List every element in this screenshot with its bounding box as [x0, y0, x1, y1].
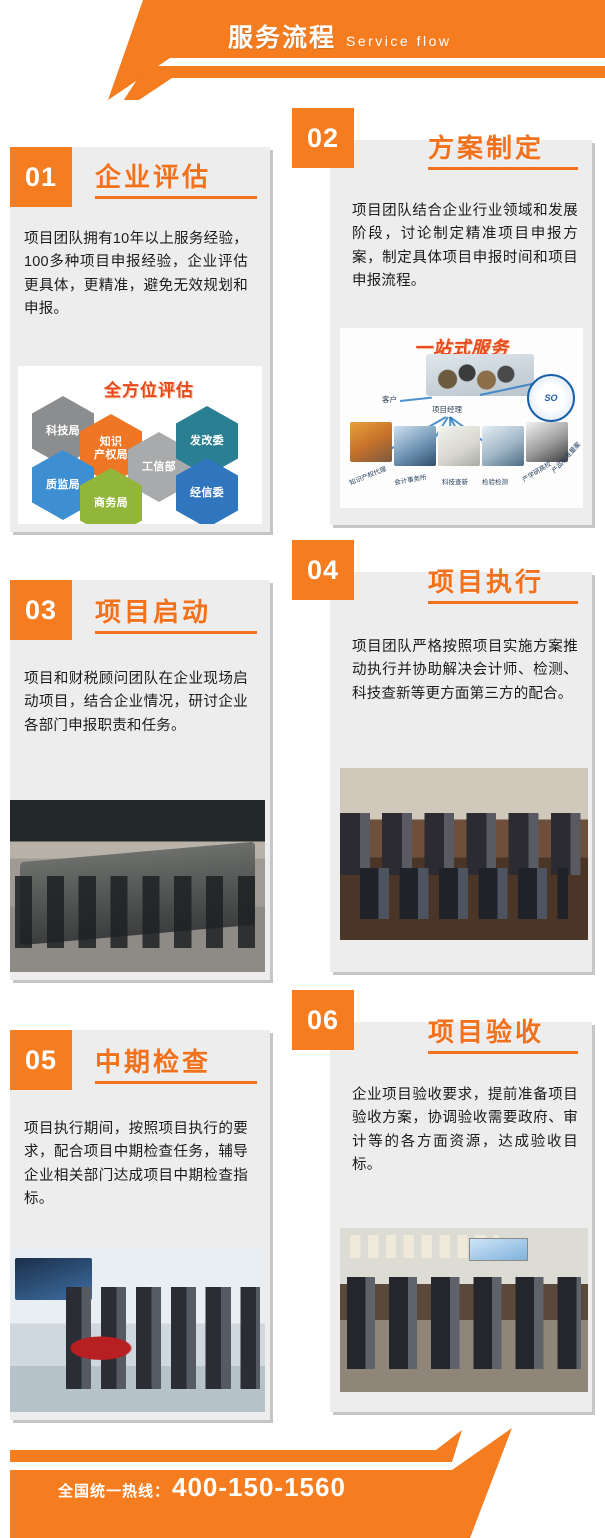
card-02-title-rule [428, 167, 578, 170]
card-05-title-rule [95, 1081, 257, 1084]
footer-hotline-label: 全国统一热线： [58, 1480, 170, 1501]
hex-node-label: 质监局 [46, 479, 80, 492]
one-stop-chip [394, 426, 436, 466]
photo-meeting-table [340, 768, 588, 940]
card-06-badge: 06 [292, 990, 354, 1050]
card-04-title-rule [428, 601, 578, 604]
card-04-body: 项目团队严格按照项目实施方案推动执行并协助解决会计师、检测、科技查新等更方面第三… [352, 636, 578, 706]
infographic-page: 服务流程 Service flow 01 企业评估 项目团队拥有10年以上服务经… [0, 0, 605, 1538]
card-03-badge: 03 [10, 580, 72, 640]
card-06-title: 项目验收 [428, 1012, 544, 1049]
card-05-badge: 05 [10, 1030, 72, 1090]
card-03-title: 项目启动 [95, 592, 211, 629]
one-stop-branch-label: 产学研高校 [520, 458, 553, 484]
photo-boardroom [340, 1228, 588, 1392]
one-stop-chip [482, 426, 524, 466]
one-stop-center-photo [426, 354, 534, 396]
projector-screen [469, 1238, 529, 1261]
header-band-stripe [112, 66, 605, 100]
card-02-title: 方案制定 [428, 128, 544, 165]
iso-seal-label: SO [544, 393, 557, 403]
one-stop-branch-label: 检验检测 [482, 476, 508, 486]
card-03-title-rule [95, 631, 257, 634]
hex-node-label: 知识 产权局 [94, 436, 128, 461]
card-04-badge: 04 [292, 540, 354, 600]
card-06-title-rule [428, 1051, 578, 1054]
card-01-title-rule [95, 196, 257, 199]
one-stop-diagram: 一站式服务 客户 项目经理 SO 知识产权代理 会计事务所 科技查新 检验检测 … [340, 328, 583, 508]
card-05-body: 项目执行期间，按照项目执行的要求，配合项目中期检查任务，辅导企业相关部门达成项目… [24, 1118, 248, 1212]
card-06-body: 企业项目验收要求，提前准备项目验收方案，协调验收需要政府、审计等的各方面资源，达… [352, 1084, 578, 1178]
one-stop-center-label: 项目经理 [432, 404, 462, 415]
one-stop-chip [350, 422, 392, 462]
one-stop-branch-label: 科技查新 [442, 476, 468, 486]
card-01-body: 项目团队拥有10年以上服务经验，100多种项目申报经验，企业评估更具体，更精准，… [24, 228, 248, 322]
hex-node-label: 商务局 [94, 497, 128, 510]
one-stop-client-label: 客户 [382, 394, 397, 405]
photo-showroom-tour [10, 1248, 265, 1412]
card-03-photo [10, 800, 265, 972]
header-chevron-shape [0, 0, 605, 100]
hex-node-label: 科技局 [46, 425, 80, 438]
card-02-body: 项目团队结合企业行业领域和发展阶段，讨论制定精准项目申报方案，制定具体项目申报时… [352, 200, 578, 294]
card-04-photo [340, 768, 588, 940]
hex-node-label: 发改委 [190, 435, 224, 448]
card-06-photo [340, 1228, 588, 1392]
footer-hotline-group: 全国统一热线： 400-150-1560 [58, 1472, 346, 1503]
one-stop-chip [438, 426, 480, 466]
header-band-main [108, 0, 605, 100]
photo-conference-room [10, 800, 265, 972]
card-01-title: 企业评估 [95, 157, 211, 194]
header-banner: 服务流程 Service flow [0, 0, 605, 100]
one-stop-branch-label: 会计事务所 [393, 471, 427, 486]
footer-band-stripe [10, 1430, 462, 1462]
hex-diagram-title: 全方位评估 [104, 376, 194, 401]
hex-node-label: 经信委 [190, 487, 224, 500]
card-02-badge: 02 [292, 108, 354, 168]
card-03-body: 项目和财税顾问团队在企业现场启动项目，结合企业情况，研讨企业各部门申报职责和任务… [24, 668, 248, 738]
flow-arrow [400, 397, 432, 402]
hex-diagram: 全方位评估 科技局 知识 产权局 质监局 工信部 商务局 发改委 经信委 [18, 366, 262, 524]
card-04-title: 项目执行 [428, 562, 544, 599]
iso-seal-icon: SO [527, 374, 575, 422]
card-05-title: 中期检查 [95, 1042, 211, 1079]
hex-node-label: 工信部 [142, 461, 176, 474]
card-01-badge: 01 [10, 147, 72, 207]
card-05-photo [10, 1248, 265, 1412]
footer-hotline-phone: 400-150-1560 [172, 1472, 346, 1503]
one-stop-branch-label: 知识产权代理 [348, 463, 388, 487]
